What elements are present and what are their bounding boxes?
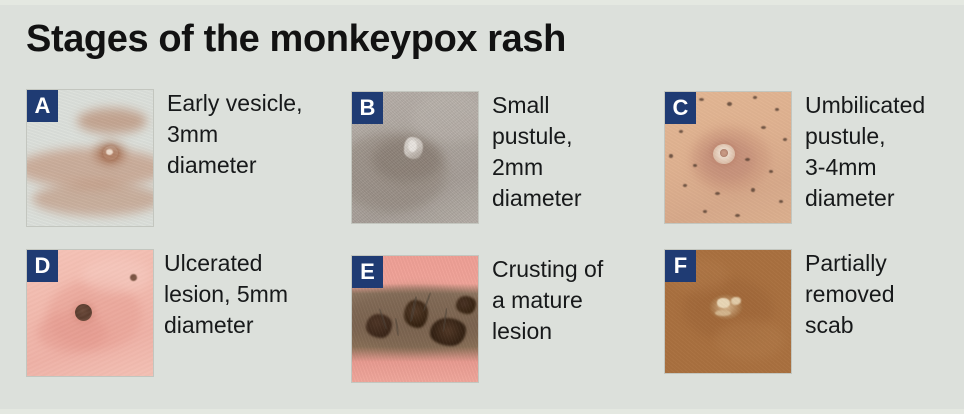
stage-card-a: Early vesicle, 3mm diameter A bbox=[27, 90, 327, 226]
stage-card-b: Small pustule, 2mm diameter B bbox=[352, 92, 652, 223]
stage-card-d: Ulcerated lesion, 5mm diameter D bbox=[27, 250, 327, 376]
page-title: Stages of the monkeypox rash bbox=[26, 18, 566, 61]
stage-badge-c: C bbox=[665, 92, 696, 124]
stage-caption-e: Crusting of a mature lesion bbox=[492, 254, 667, 347]
stage-badge-e: E bbox=[352, 256, 383, 288]
stage-card-e: Crusting of a mature lesion E bbox=[352, 256, 652, 382]
top-edge-strip bbox=[0, 0, 964, 5]
stage-badge-f: F bbox=[665, 250, 696, 282]
stage-card-c: Umbilicated pustule, 3-4mm diameter C bbox=[665, 92, 960, 223]
stage-caption-a: Early vesicle, 3mm diameter bbox=[167, 88, 332, 181]
stage-badge-b: B bbox=[352, 92, 383, 124]
stage-card-f: Partially removed scab F bbox=[665, 250, 960, 373]
stage-badge-a: A bbox=[27, 90, 58, 122]
stage-caption-d: Ulcerated lesion, 5mm diameter bbox=[164, 248, 339, 341]
monkeypox-rash-infographic: Stages of the monkeypox rash Early vesic… bbox=[0, 0, 964, 414]
stage-caption-f: Partially removed scab bbox=[805, 248, 964, 341]
stage-caption-c: Umbilicated pustule, 3-4mm diameter bbox=[805, 90, 964, 214]
bottom-edge-strip bbox=[0, 409, 964, 414]
stage-caption-b: Small pustule, 2mm diameter bbox=[492, 90, 657, 214]
stage-badge-d: D bbox=[27, 250, 58, 282]
